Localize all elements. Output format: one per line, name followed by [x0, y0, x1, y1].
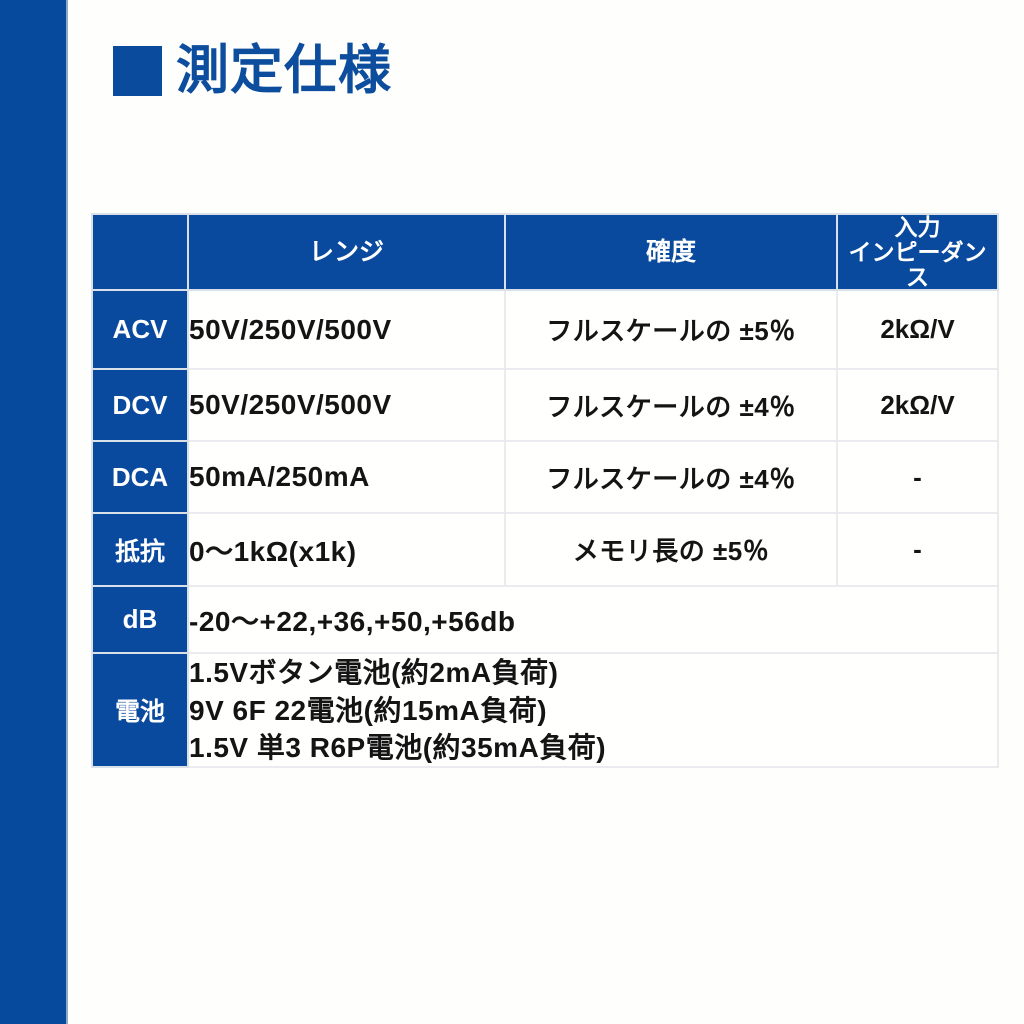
row-label-dca: DCA [92, 441, 188, 513]
table-row: DCA 50mA/250mA フルスケールの ±4％ - [92, 441, 998, 513]
page-title: 測定仕様 [176, 44, 392, 97]
cell-db-range: -20〜+22,+36,+50,+56db [188, 586, 998, 653]
cell-dcv-range: 50V/250V/500V [188, 369, 505, 441]
column-header-input-impedance: 入力 インピーダンス [837, 214, 998, 290]
cell-battery-range: 1.5Vボタン電池(約2mA負荷) 9V 6F 22電池(約15mA負荷) 1.… [188, 653, 998, 767]
table-row: 電池 1.5Vボタン電池(約2mA負荷) 9V 6F 22電池(約15mA負荷)… [92, 653, 998, 767]
measurement-spec-table: レンジ 確度 入力 インピーダンス ACV 50V/250V/500V フルスケ… [91, 213, 999, 768]
left-accent-bar [0, 0, 66, 1024]
page-header: 測定仕様 [113, 44, 392, 97]
cell-resistance-accuracy: メモリ長の ±5％ [505, 513, 837, 586]
column-header-input-impedance-line2: インピーダンス [838, 240, 997, 290]
cell-acv-impedance: 2kΩ/V [837, 290, 998, 369]
cell-dca-range: 50mA/250mA [188, 441, 505, 513]
row-label-acv: ACV [92, 290, 188, 369]
filled-square-icon [113, 46, 162, 96]
table-header-row: レンジ 確度 入力 インピーダンス [92, 214, 998, 290]
table-row: DCV 50V/250V/500V フルスケールの ±4％ 2kΩ/V [92, 369, 998, 441]
battery-line-3: 1.5V 単3 R6P電池(約35mA負荷) [189, 729, 997, 766]
column-header-accuracy: 確度 [505, 214, 837, 290]
row-label-battery: 電池 [92, 653, 188, 767]
cell-acv-range: 50V/250V/500V [188, 290, 505, 369]
cell-resistance-impedance: - [837, 513, 998, 586]
column-header-input-impedance-line1: 入力 [838, 215, 997, 240]
column-header-label [92, 214, 188, 290]
cell-dcv-accuracy: フルスケールの ±4％ [505, 369, 837, 441]
table-row: ACV 50V/250V/500V フルスケールの ±5％ 2kΩ/V [92, 290, 998, 369]
table-row: dB -20〜+22,+36,+50,+56db [92, 586, 998, 653]
battery-line-2: 9V 6F 22電池(約15mA負荷) [189, 692, 997, 729]
column-header-range: レンジ [188, 214, 505, 290]
row-label-db: dB [92, 586, 188, 653]
cell-dca-impedance: - [837, 441, 998, 513]
cell-resistance-range: 0〜1kΩ(x1k) [188, 513, 505, 586]
cell-acv-accuracy: フルスケールの ±5％ [505, 290, 837, 369]
row-label-dcv: DCV [92, 369, 188, 441]
left-accent-bar-edge [66, 0, 68, 1024]
battery-line-1: 1.5Vボタン電池(約2mA負荷) [189, 654, 997, 691]
cell-dcv-impedance: 2kΩ/V [837, 369, 998, 441]
cell-dca-accuracy: フルスケールの ±4％ [505, 441, 837, 513]
table-row: 抵抗 0〜1kΩ(x1k) メモリ長の ±5％ - [92, 513, 998, 586]
row-label-resistance: 抵抗 [92, 513, 188, 586]
